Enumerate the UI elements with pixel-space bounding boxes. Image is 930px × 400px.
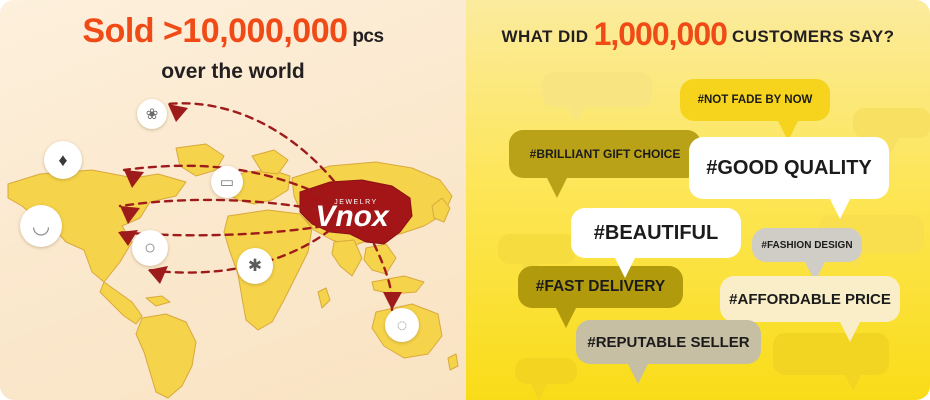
bubble-label: #FASHION DESIGN: [761, 240, 852, 251]
customer-feedback-panel: WHAT DID 1,000,000 CUSTOMERS SAY? #NOT F…: [466, 0, 930, 400]
headline-subtitle: over the world: [0, 60, 466, 84]
bubble-affordable-price[interactable]: #AFFORDABLE PRICE: [720, 276, 900, 322]
ghost-bubble-6: [515, 358, 577, 384]
landmass-madagascar: [318, 288, 330, 308]
bubble-tail: [840, 322, 860, 342]
ghost-bubble-5: [773, 333, 889, 375]
bubble-reputable-seller[interactable]: #REPUTABLE SELLER: [576, 320, 761, 364]
promo-banner: Sold >10,000,000 pcs over the world: [0, 0, 930, 400]
bubble-tail: [628, 364, 648, 384]
feedback-title-suffix: CUSTOMERS SAY?: [727, 27, 895, 46]
world-map-svg: JEWELRY Vnox: [0, 86, 466, 400]
bubble-label: #GOOD QUALITY: [706, 157, 872, 180]
page-title: Sold >10,000,000 pcs: [0, 12, 466, 51]
feedback-title-prefix: WHAT DID: [502, 27, 594, 46]
vnox-logo-text: Vnox: [315, 200, 390, 233]
bubble-not-fade-by-now[interactable]: #NOT FADE BY NOW: [680, 79, 830, 121]
landmass-new-zealand: [448, 354, 458, 370]
headline-number: >10,000,000: [163, 12, 348, 50]
feedback-title-number: 1,000,000: [594, 16, 727, 52]
ghost-bubble-1: [542, 72, 652, 107]
ghost-bubble-4: [498, 234, 576, 264]
bubble-tail: [568, 107, 584, 123]
landmass-indonesia: [372, 276, 424, 294]
bubble-label: #BRILLIANT GIFT CHOICE: [530, 147, 681, 161]
chain-necklace-icon: ◡: [20, 205, 62, 247]
arrowhead-5: [148, 266, 168, 284]
bubble-fast-delivery[interactable]: #FAST DELIVERY: [518, 266, 683, 308]
bubble-label: #NOT FADE BY NOW: [698, 94, 813, 106]
bubble-tail: [547, 178, 567, 198]
bubble-tail: [830, 199, 850, 219]
bubble-brilliant-gift-choice[interactable]: #BRILLIANT GIFT CHOICE: [509, 130, 701, 178]
bubble-tail: [845, 375, 861, 391]
bubble-good-quality[interactable]: #GOOD QUALITY: [689, 137, 889, 199]
world-map-panel: Sold >10,000,000 pcs over the world: [0, 0, 466, 400]
pendant-necklace-icon: ♦: [44, 141, 82, 179]
bubble-tail: [556, 308, 576, 328]
watch-icon: ▭: [211, 166, 243, 198]
bubble-fashion-design[interactable]: #FASHION DESIGN: [752, 228, 862, 262]
ring-icon: ◌: [385, 308, 419, 342]
landmass-south-america: [136, 314, 196, 398]
bubble-tail: [531, 384, 547, 400]
landmass-india: [332, 240, 362, 276]
world-map: JEWELRY Vnox ❀ ♦ ◡ ○ ✱ ▭ ◌: [0, 86, 466, 400]
landmass-central-america: [100, 282, 142, 324]
bubble-tail: [615, 258, 635, 278]
ghost-bubble-2: [853, 108, 930, 138]
headline-sold-text: Sold: [82, 12, 163, 50]
bubble-label: #AFFORDABLE PRICE: [729, 291, 891, 308]
bubble-label: #REPUTABLE SELLER: [587, 334, 749, 351]
headline-unit: pcs: [348, 26, 384, 47]
bubble-label: #BEAUTIFUL: [594, 222, 718, 245]
landmass-caribbean: [146, 296, 170, 306]
landmass-scandinavia: [252, 150, 288, 174]
feedback-title: WHAT DID 1,000,000 CUSTOMERS SAY?: [466, 16, 930, 53]
bracelet-icon: ○: [132, 230, 168, 266]
arrowhead-1: [168, 104, 188, 122]
cufflinks-icon: ✱: [237, 248, 273, 284]
bubble-label: #FAST DELIVERY: [536, 278, 665, 296]
earrings-icon: ❀: [137, 99, 167, 129]
bubble-beautiful[interactable]: #BEAUTIFUL: [571, 208, 741, 258]
